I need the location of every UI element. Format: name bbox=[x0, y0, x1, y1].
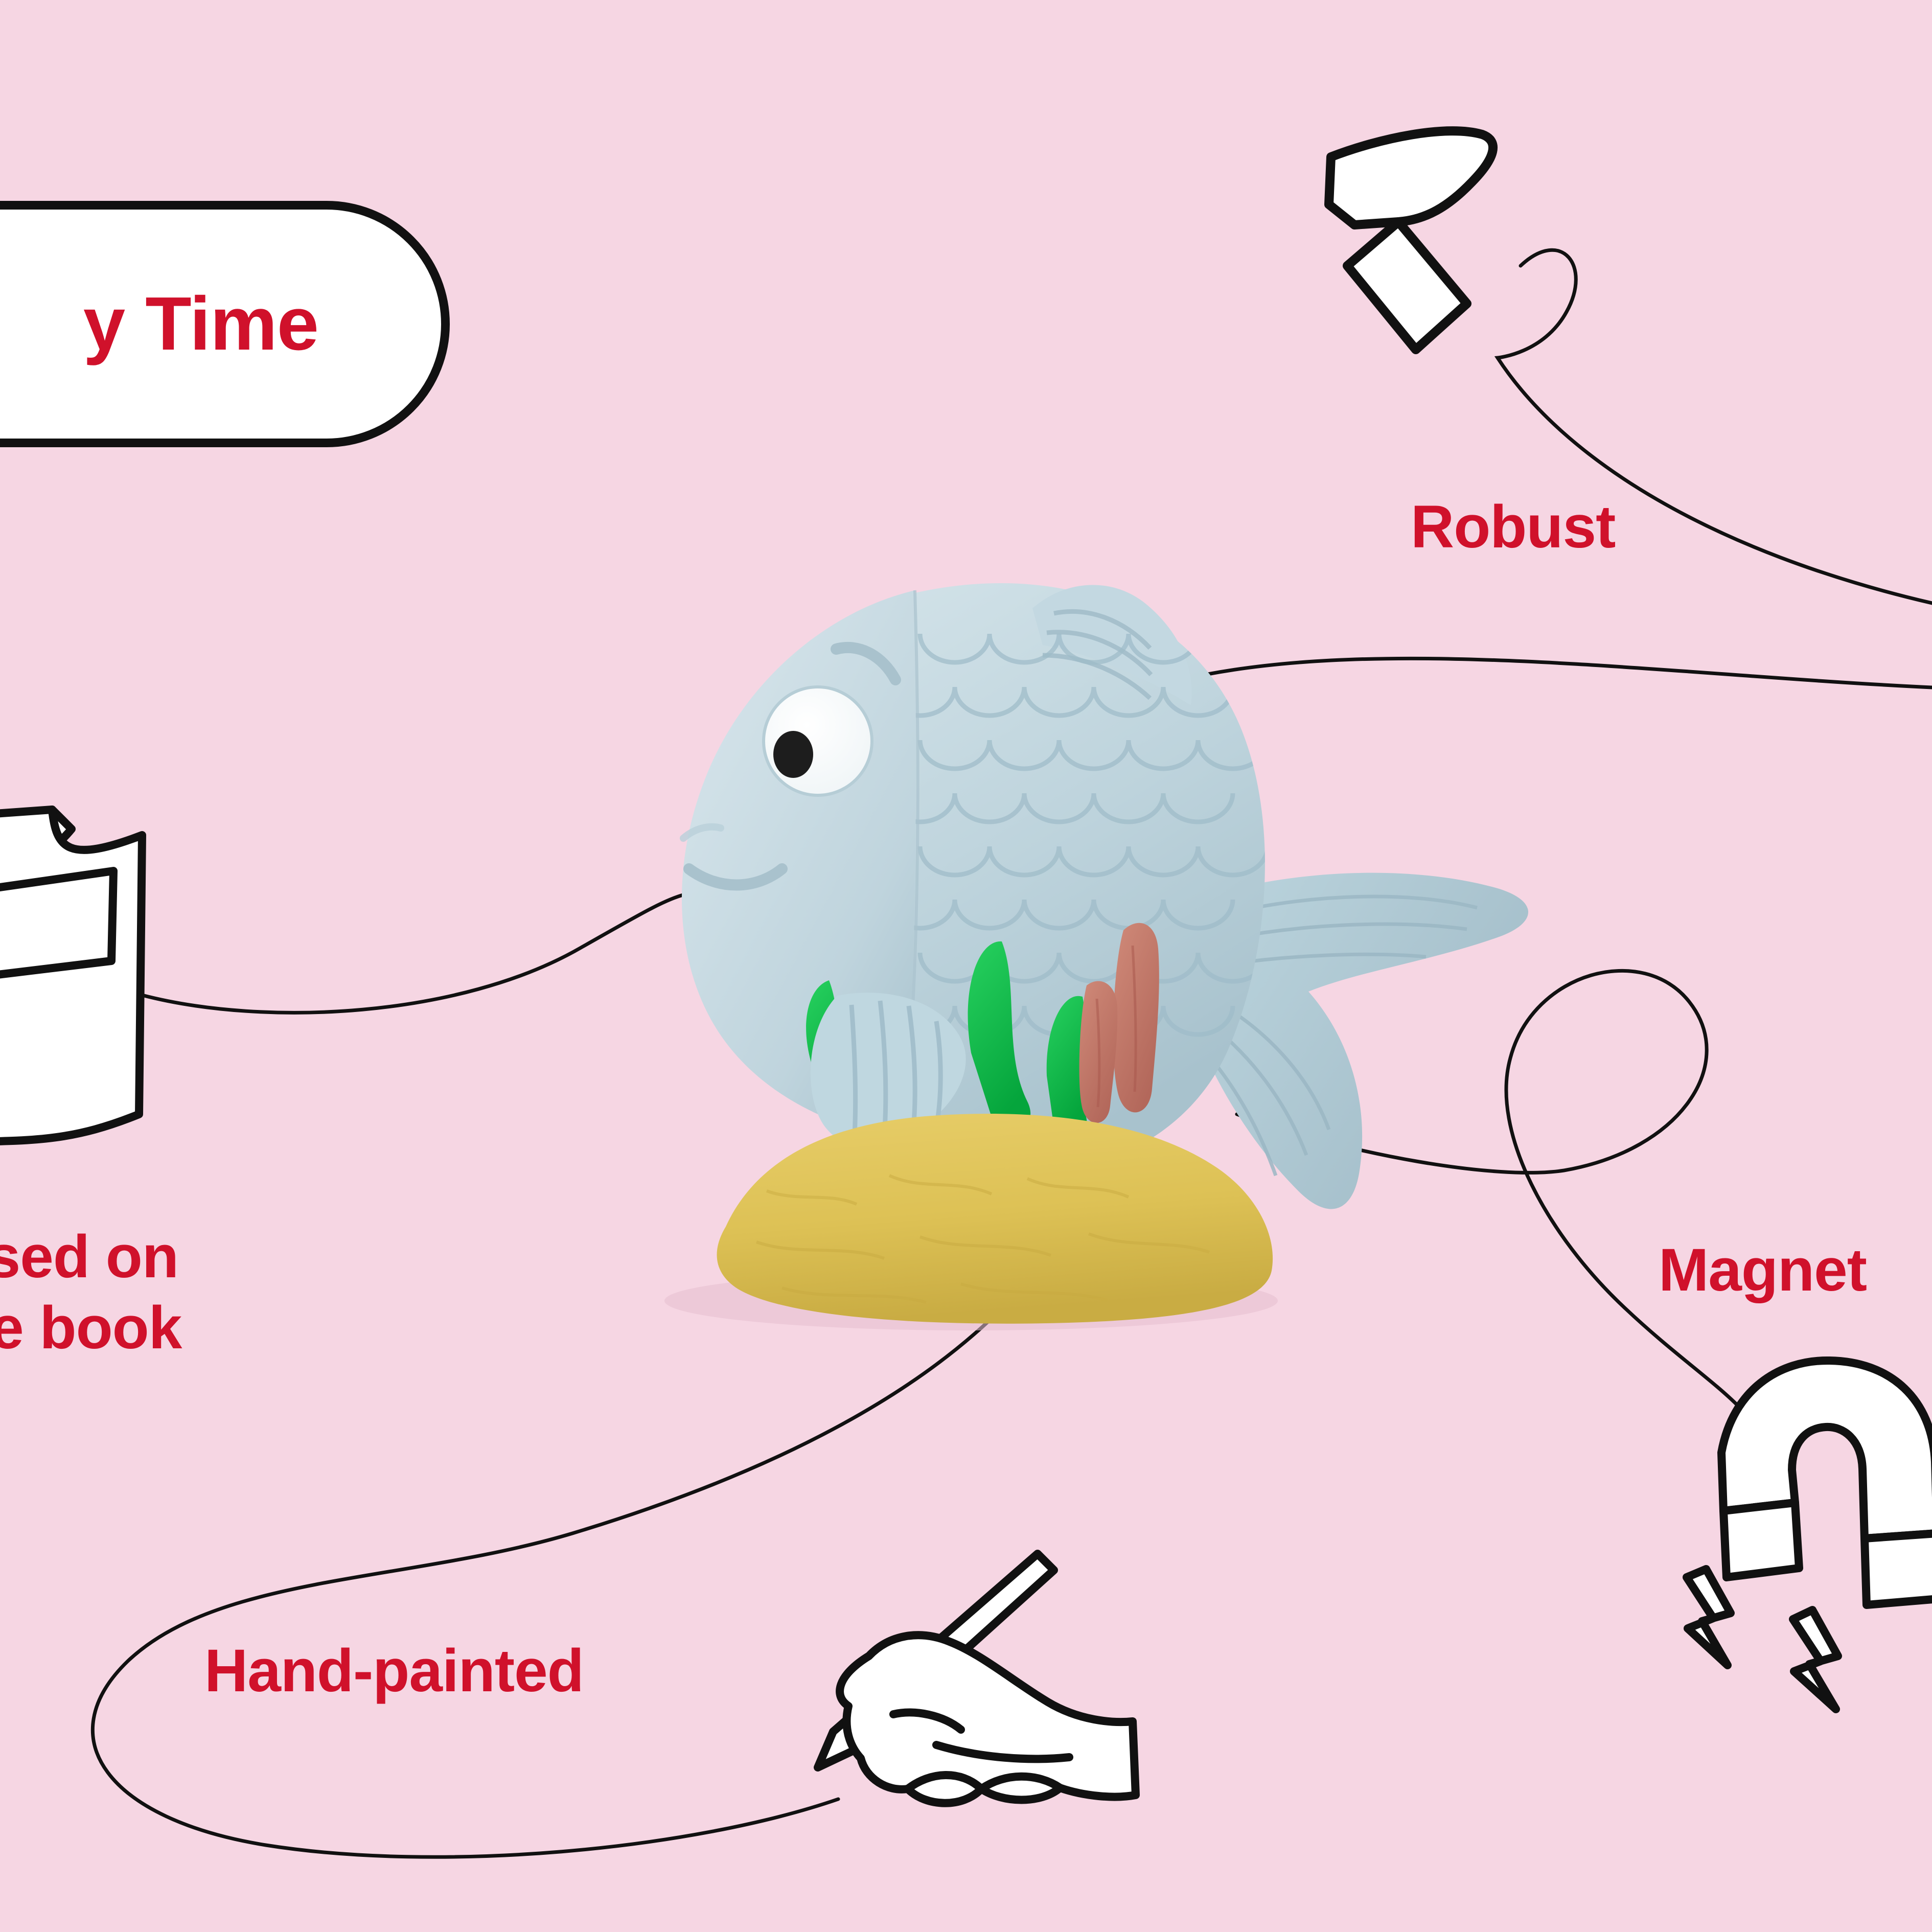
story-time-badge[interactable]: y Time bbox=[0, 201, 450, 447]
feature-label-based-on-the-book: ased on he book bbox=[0, 1222, 181, 1364]
badge-label: y Time bbox=[83, 281, 318, 367]
feature-label-magnetic: Magnet bbox=[1659, 1235, 1867, 1306]
text-layer: y Time Robust Magnet ased on he book Han… bbox=[0, 0, 1932, 1932]
product-feature-poster: y Time Robust Magnet ased on he book Han… bbox=[0, 0, 1932, 1932]
feature-label-robust: Robust bbox=[1411, 492, 1615, 563]
feature-label-hand-painted: Hand-painted bbox=[204, 1636, 584, 1707]
